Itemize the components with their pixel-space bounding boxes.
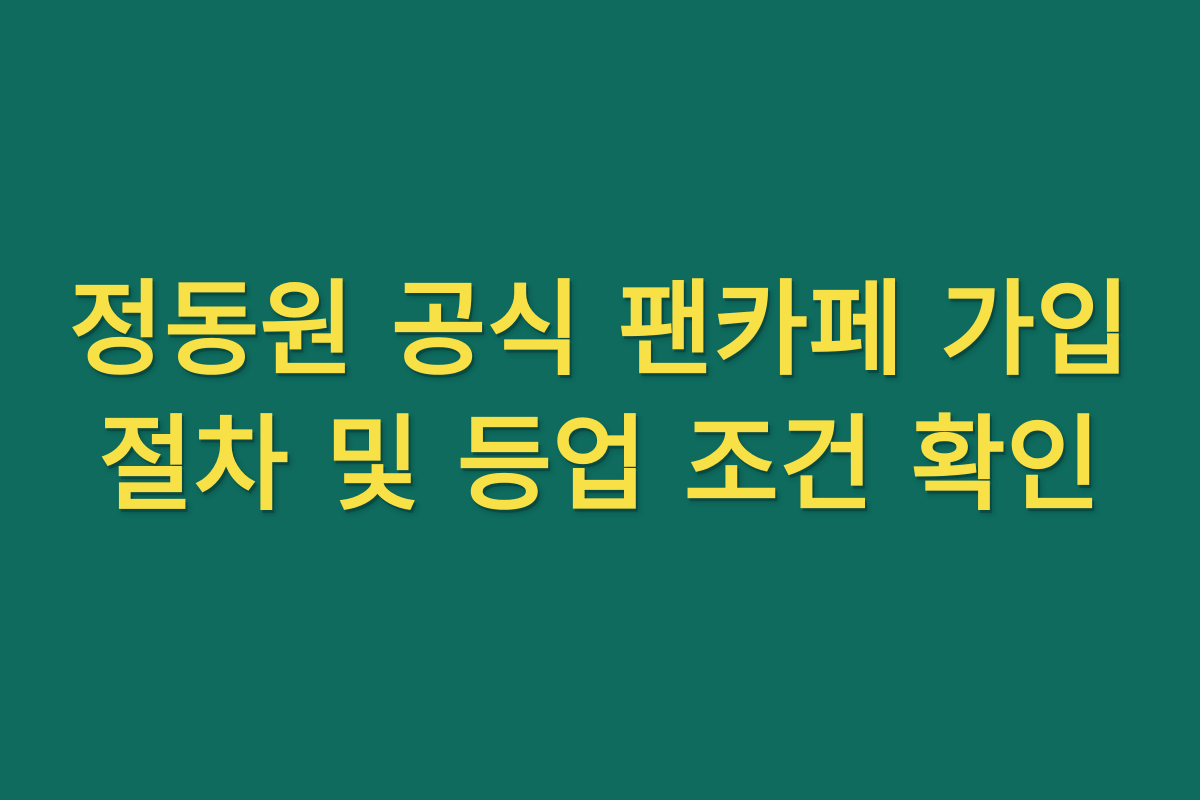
thumbnail-banner: 정동원 공식 팬카페 가입 절차 및 등업 조건 확인 bbox=[0, 0, 1200, 800]
headline-line-2: 절차 및 등업 조건 확인 bbox=[50, 400, 1150, 531]
headline-block: 정동원 공식 팬카페 가입 절차 및 등업 조건 확인 bbox=[50, 265, 1150, 531]
headline-line-1: 정동원 공식 팬카페 가입 bbox=[50, 265, 1150, 396]
